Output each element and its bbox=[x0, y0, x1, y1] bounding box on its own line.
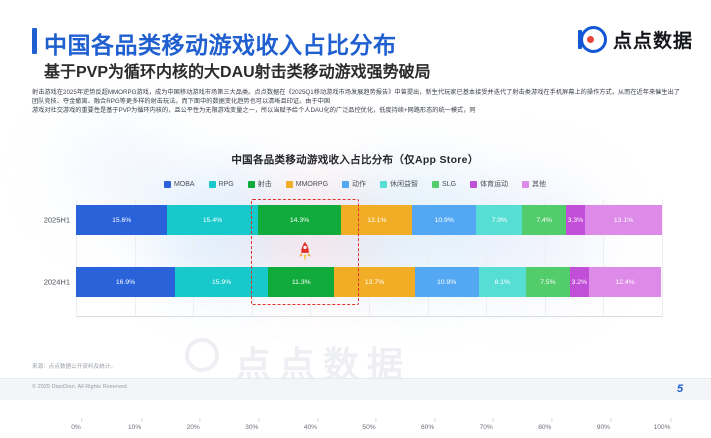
chart-row-label: 2024H1 bbox=[44, 278, 70, 287]
x-axis-tick-label: 40% bbox=[304, 424, 317, 431]
x-axis-tick-mark bbox=[376, 418, 377, 422]
rocket-arrow-icon bbox=[297, 241, 313, 263]
chart-bar-segment[interactable]: 14.3% bbox=[258, 205, 342, 235]
page-title: 中国各品类移动游戏收入占比分布 bbox=[44, 26, 397, 60]
chart-bar-value-label: 3.3% bbox=[568, 217, 584, 224]
body-paragraph-line-2: 游戏对社交游戏的重要性是基于PVP为循环内核的，且公平性为无限游戏变量之一，所以… bbox=[32, 106, 680, 115]
gridline bbox=[662, 199, 663, 317]
title-accent-bar bbox=[32, 28, 37, 54]
legend-item-moba[interactable]: MOBA bbox=[164, 181, 195, 188]
legend-swatch-icon bbox=[342, 181, 349, 188]
chart-source-note: 来源：点点数据公开资料及统计。 bbox=[32, 362, 116, 370]
x-axis-tick-label: 20% bbox=[187, 424, 200, 431]
chart-legend: MOBARPG射击MMORPG动作休闲益智SLG体育运动其他 bbox=[30, 179, 680, 189]
chart-title: 中国各品类移动游戏收入占比分布（仅App Store） bbox=[30, 148, 680, 167]
legend-swatch-icon bbox=[209, 181, 216, 188]
chart-bar-segment[interactable]: 13.7% bbox=[334, 267, 414, 297]
chart-bar-segment[interactable]: 10.9% bbox=[412, 205, 476, 235]
body-paragraph: 射击游戏在2025年逆势反超MMORPG游戏，成为中国移动游戏市场第三大品类。点… bbox=[32, 88, 680, 115]
chart-bar-value-label: 8.1% bbox=[495, 279, 511, 286]
x-axis-tick-label: 30% bbox=[245, 424, 258, 431]
legend-label: MMORPG bbox=[296, 181, 328, 188]
brand-name: 点点数据 bbox=[613, 26, 693, 53]
watermark-logo-icon bbox=[185, 338, 219, 372]
copyright-text: © 2025 DianDian. All Rights Reserved. bbox=[32, 384, 128, 390]
legend-label: MOBA bbox=[174, 181, 195, 188]
chart-bar-value-label: 15.4% bbox=[203, 217, 222, 224]
chart-bar-value-label: 15.9% bbox=[212, 279, 231, 286]
x-axis-tick-mark bbox=[610, 418, 611, 422]
legend-label: SLG bbox=[442, 181, 456, 188]
chart-bar-value-label: 13.7% bbox=[365, 279, 384, 286]
legend-label: 休闲益智 bbox=[390, 179, 418, 189]
x-axis-tick-label: 100% bbox=[654, 424, 671, 431]
x-axis-tick-label: 60% bbox=[421, 424, 434, 431]
chart-bar-value-label: 3.2% bbox=[572, 279, 588, 286]
chart-x-axis: 0%10%20%30%40%50%60%70%80%90%100% bbox=[76, 424, 662, 438]
legend-item-体育运动[interactable]: 体育运动 bbox=[470, 179, 508, 189]
legend-swatch-icon bbox=[432, 181, 439, 188]
slide-header: 中国各品类移动游戏收入占比分布 基于PVP为循环内核的大DAU射击类移动游戏强势… bbox=[0, 0, 711, 88]
legend-item-射击[interactable]: 射击 bbox=[248, 179, 272, 189]
x-axis-tick-mark bbox=[317, 418, 318, 422]
chart-bar-value-label: 7.5% bbox=[540, 279, 556, 286]
x-axis-tick-mark bbox=[141, 418, 142, 422]
legend-swatch-icon bbox=[522, 181, 529, 188]
x-axis-tick-label: 70% bbox=[480, 424, 493, 431]
chart-bar-row-2024h1[interactable]: 2024H1 16.9%15.9%11.3%13.7%10.9%8.1%7.5%… bbox=[76, 267, 662, 297]
legend-swatch-icon bbox=[470, 181, 477, 188]
x-axis-tick-mark bbox=[551, 418, 552, 422]
page-subtitle: 基于PVP为循环内核的大DAU射击类移动游戏强势破局 bbox=[44, 58, 431, 82]
chart-bar-segment[interactable]: 8.1% bbox=[479, 267, 526, 297]
chart-bar-segment[interactable]: 11.3% bbox=[268, 267, 334, 297]
chart-bar-value-label: 13.1% bbox=[614, 217, 633, 224]
chart-bar-segment[interactable]: 16.9% bbox=[76, 267, 175, 297]
diandian-logo-icon bbox=[580, 26, 607, 53]
legend-label: RPG bbox=[219, 181, 234, 188]
chart-bar-segment[interactable]: 12.1% bbox=[341, 205, 412, 235]
chart-bar-segment[interactable]: 15.4% bbox=[167, 205, 257, 235]
legend-swatch-icon bbox=[380, 181, 387, 188]
chart-bar-value-label: 10.9% bbox=[435, 217, 454, 224]
page-number: 5 bbox=[671, 378, 689, 400]
legend-swatch-icon bbox=[248, 181, 255, 188]
legend-label: 动作 bbox=[352, 179, 366, 189]
x-axis-tick-mark bbox=[434, 418, 435, 422]
chart-bar-row-2025h1[interactable]: 2025H1 15.6%15.4%14.3%12.1%10.9%7.9%7.4%… bbox=[76, 205, 662, 235]
legend-item-slg[interactable]: SLG bbox=[432, 181, 456, 188]
x-axis-tick-label: 80% bbox=[538, 424, 551, 431]
chart-bar-value-label: 11.3% bbox=[292, 279, 311, 286]
chart-bar-value-label: 7.9% bbox=[492, 217, 508, 224]
chart-bar-segment[interactable]: 15.6% bbox=[76, 205, 167, 235]
legend-label: 其他 bbox=[532, 179, 546, 189]
chart-bar-value-label: 12.4% bbox=[615, 279, 634, 286]
chart-bar-value-label: 10.9% bbox=[437, 279, 456, 286]
x-axis-tick-mark bbox=[200, 418, 201, 422]
chart-bar-segment[interactable]: 10.9% bbox=[415, 267, 479, 297]
x-axis-tick-mark bbox=[493, 418, 494, 422]
legend-label: 体育运动 bbox=[480, 179, 508, 189]
chart-container: 点点数据 中国各品类移动游戏收入占比分布（仅App Store） MOBARPG… bbox=[30, 148, 680, 360]
legend-item-休闲益智[interactable]: 休闲益智 bbox=[380, 179, 418, 189]
legend-swatch-icon bbox=[164, 181, 171, 188]
chart-bar-value-label: 7.4% bbox=[536, 217, 552, 224]
slide-root: 中国各品类移动游戏收入占比分布 基于PVP为循环内核的大DAU射击类移动游戏强势… bbox=[0, 0, 711, 400]
chart-bar-segment[interactable]: 3.3% bbox=[566, 205, 585, 235]
legend-item-其他[interactable]: 其他 bbox=[522, 179, 546, 189]
chart-plot-area: 2025H1 15.6%15.4%14.3%12.1%10.9%7.9%7.4%… bbox=[76, 199, 662, 317]
x-axis-tick-label: 90% bbox=[597, 424, 610, 431]
x-axis-tick-label: 0% bbox=[71, 424, 81, 431]
chart-bar-segment[interactable]: 13.1% bbox=[585, 205, 662, 235]
chart-bar-segment[interactable]: 15.9% bbox=[175, 267, 268, 297]
legend-item-mmorpg[interactable]: MMORPG bbox=[286, 181, 328, 188]
chart-bar-segment[interactable]: 7.5% bbox=[526, 267, 570, 297]
x-axis-tick-mark bbox=[81, 418, 82, 422]
legend-item-rpg[interactable]: RPG bbox=[209, 181, 234, 188]
chart-row-label: 2025H1 bbox=[44, 216, 70, 225]
chart-x-axis-line bbox=[76, 316, 662, 317]
x-axis-tick-label: 10% bbox=[128, 424, 141, 431]
x-axis-tick-label: 50% bbox=[362, 424, 375, 431]
chart-bar-value-label: 16.9% bbox=[116, 279, 135, 286]
body-paragraph-line-1: 射击游戏在2025年逆势反超MMORPG游戏，成为中国移动游戏市场第三大品类。点… bbox=[32, 88, 680, 106]
x-axis-tick-mark bbox=[670, 418, 671, 422]
chart-bar-segment[interactable]: 7.4% bbox=[522, 205, 565, 235]
x-axis-tick-mark bbox=[258, 418, 259, 422]
legend-label: 射击 bbox=[258, 179, 272, 189]
chart-bar-segment[interactable]: 3.2% bbox=[570, 267, 589, 297]
legend-item-动作[interactable]: 动作 bbox=[342, 179, 366, 189]
chart-bar-segment[interactable]: 7.9% bbox=[476, 205, 522, 235]
chart-bar-value-label: 12.1% bbox=[367, 217, 386, 224]
brand-logo: 点点数据 bbox=[580, 26, 693, 53]
chart-bar-segment[interactable]: 12.4% bbox=[589, 267, 662, 297]
chart-bar-value-label: 14.3% bbox=[290, 217, 309, 224]
legend-swatch-icon bbox=[286, 181, 293, 188]
chart-bar-value-label: 15.6% bbox=[112, 217, 131, 224]
